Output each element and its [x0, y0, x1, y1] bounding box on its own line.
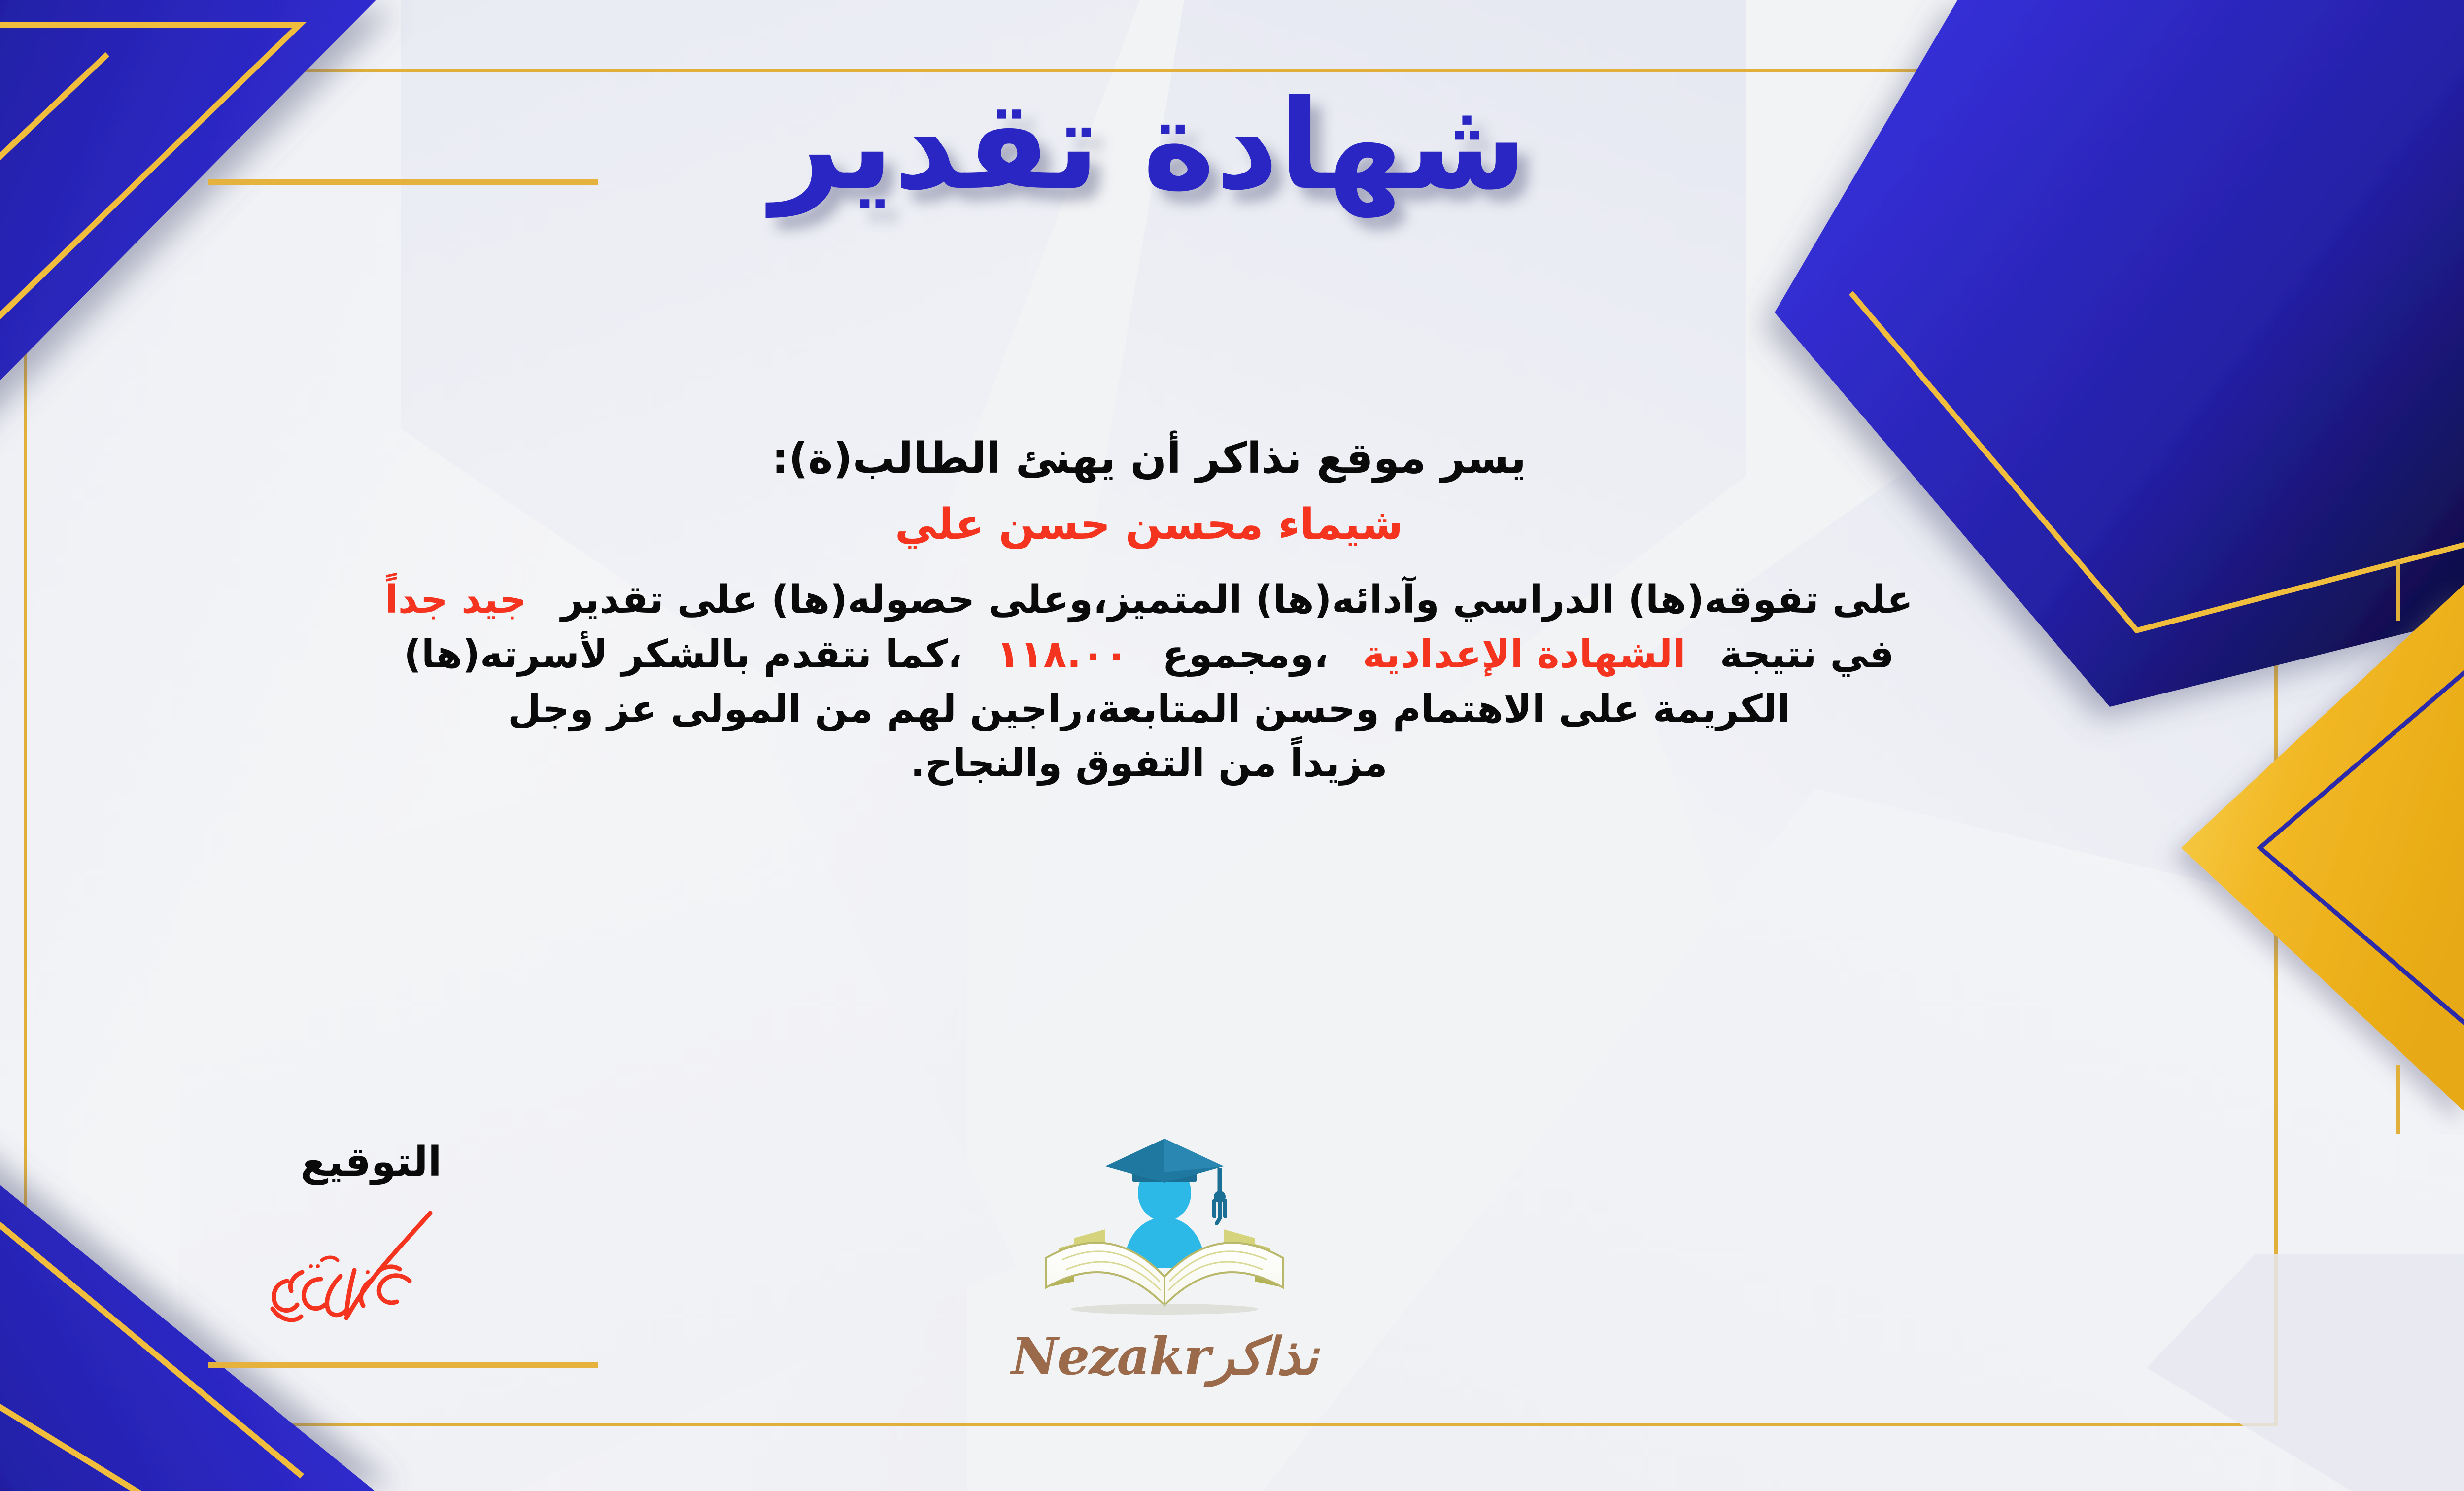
- grade-value: جيد جداً: [385, 578, 527, 622]
- signature-area: التوقيع: [218, 1139, 524, 1330]
- certificate-title: شهادة تقدير: [0, 84, 2464, 207]
- total-score: ١١٨.٠٠: [996, 632, 1129, 677]
- paragraph-line-2: في نتيجة الشهادة الإعدادية ،ومجموع ١١٨.٠…: [0, 627, 2316, 682]
- logo-wordmark: نذاكرNezakr: [962, 1326, 1367, 1387]
- site-logo: نذاكرNezakr: [962, 1134, 1367, 1387]
- certificate-body: يسر موقع نذاكر أن يهنئ الطالب(ة): شيماء …: [0, 434, 2316, 791]
- certificate-title-text: شهادة تقدير: [0, 84, 2464, 207]
- thanks-prefix-text: ،كما نتقدم بالشكر لأسرته(ها): [404, 632, 962, 677]
- handwritten-signature: [218, 1207, 524, 1330]
- bottom-right-facet-ornament: [2023, 1254, 2464, 1491]
- logo-latin-name: Nezakr: [1011, 1326, 1210, 1387]
- total-label: ،ومجموع: [1163, 632, 1329, 677]
- paragraph-line-4: مزيداً من التفوق والنجاح.: [0, 736, 2316, 791]
- logo-arabic-name: نذاكر: [1210, 1326, 1318, 1387]
- paragraph-line-1: على تفوقه(ها) الدراسي وآدائه(ها) المتميز…: [0, 573, 2316, 627]
- certificate-page: شهادة تقدير يسر موقع نذاكر أن يهنئ الطال…: [0, 0, 2464, 1491]
- paragraph-line1-text: على تفوقه(ها) الدراسي وآدائه(ها) المتميز…: [561, 578, 1913, 622]
- intro-line: يسر موقع نذاكر أن يهنئ الطالب(ة):: [0, 434, 2316, 483]
- bg-facet-5: [1263, 789, 2464, 1491]
- student-name: شيماء محسن حسن علي: [0, 500, 2316, 549]
- certificate-paragraph: على تفوقه(ها) الدراسي وآدائه(ها) المتميز…: [0, 573, 2316, 791]
- result-prefix-text: في نتيجة: [1720, 632, 1894, 677]
- bg-facet-6: [179, 739, 1017, 1491]
- signature-label: التوقيع: [218, 1139, 524, 1185]
- exam-name: الشهادة الإعدادية: [1363, 632, 1686, 677]
- graduate-on-book-icon: [1027, 1134, 1302, 1331]
- paragraph-line-3: الكريمة على الاهتمام وحسن المتابعة،راجين…: [0, 682, 2316, 737]
